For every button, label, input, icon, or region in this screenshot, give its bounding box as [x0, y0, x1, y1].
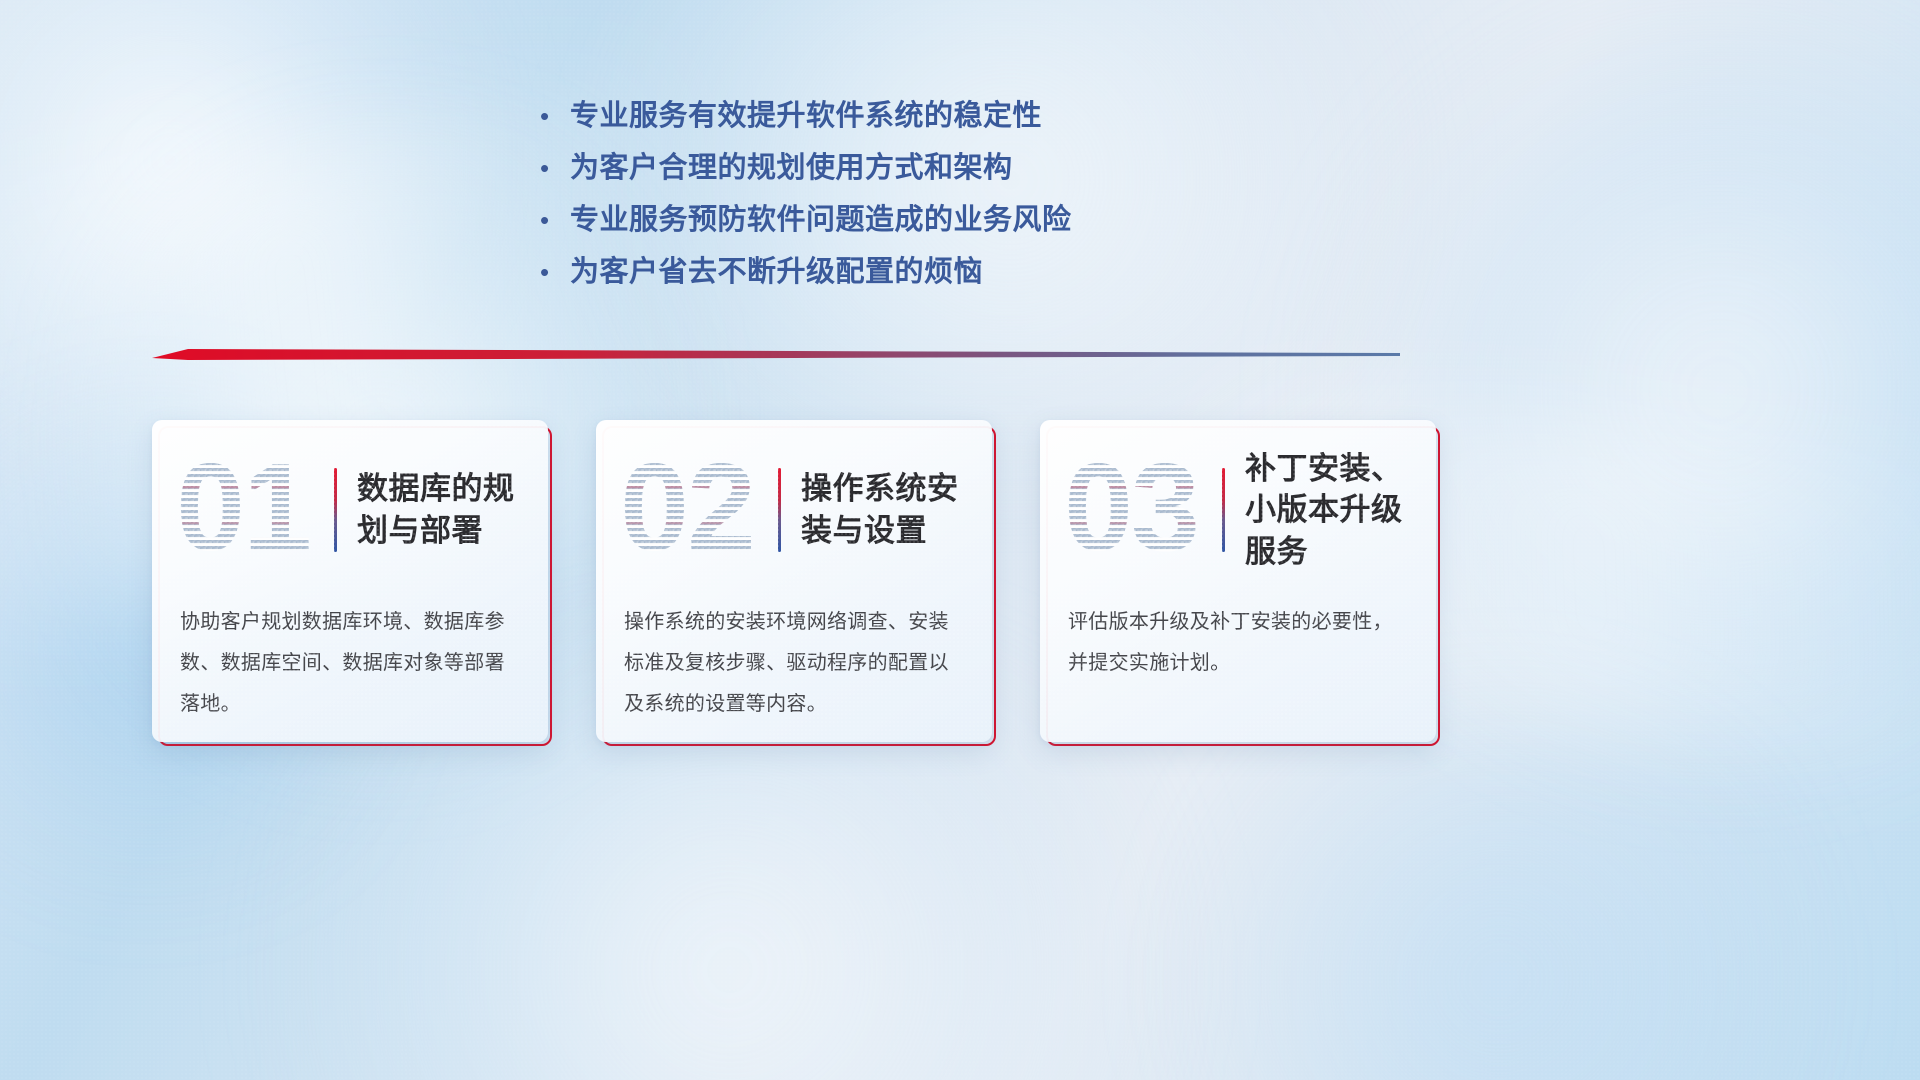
card-surface: 03 补丁安装、小版本升级服务 评估版本升级及补丁安装的必要性，并提交实施计划。	[1040, 420, 1436, 742]
card-surface: 01 数据库的规划与部署 协助客户规划数据库环境、数据库参数、数据库空间、数据库…	[152, 420, 548, 742]
card-header: 02 操作系统安装与设置	[624, 454, 964, 566]
card-02[interactable]: 02 操作系统安装与设置 操作系统的安装环境网络调查、安装标准及复核步骤、驱动程…	[596, 420, 992, 742]
card-body-text: 评估版本升级及补丁安装的必要性，并提交实施计划。	[1068, 602, 1408, 684]
bullet-text: 为客户合理的规划使用方式和架构	[570, 144, 1013, 186]
card-03[interactable]: 03 补丁安装、小版本升级服务 评估版本升级及补丁安装的必要性，并提交实施计划。	[1040, 420, 1436, 742]
card-number-graphic: 02	[624, 454, 774, 566]
bullet-marker-icon: •	[540, 259, 570, 285]
card-title: 操作系统安装与设置	[801, 468, 964, 551]
list-item: • 为客户合理的规划使用方式和架构	[540, 144, 1360, 196]
list-item: • 专业服务有效提升软件系统的稳定性	[540, 92, 1360, 144]
bullet-text: 专业服务有效提升软件系统的稳定性	[570, 92, 1042, 134]
bullet-marker-icon: •	[540, 155, 570, 181]
card-header: 03 补丁安装、小版本升级服务	[1068, 454, 1408, 566]
bullet-text: 专业服务预防软件问题造成的业务风险	[570, 196, 1072, 238]
number-striped-icon: 01	[176, 450, 336, 570]
bullet-marker-icon: •	[540, 207, 570, 233]
number-striped-icon: 02	[620, 450, 780, 570]
card-body-text: 操作系统的安装环境网络调查、安装标准及复核步骤、驱动程序的配置以及系统的设置等内…	[624, 602, 964, 725]
card-row: 01 数据库的规划与部署 协助客户规划数据库环境、数据库参数、数据库空间、数据库…	[152, 420, 1772, 746]
card-number-graphic: 01	[180, 454, 330, 566]
card-surface: 02 操作系统安装与设置 操作系统的安装环境网络调查、安装标准及复核步骤、驱动程…	[596, 420, 992, 742]
card-number-graphic: 03	[1068, 454, 1218, 566]
card-title: 数据库的规划与部署	[357, 468, 520, 551]
list-item: • 为客户省去不断升级配置的烦恼	[540, 248, 1360, 300]
card-01[interactable]: 01 数据库的规划与部署 协助客户规划数据库环境、数据库参数、数据库空间、数据库…	[152, 420, 548, 742]
section-divider	[152, 340, 1400, 366]
bullet-list: • 专业服务有效提升软件系统的稳定性 • 为客户合理的规划使用方式和架构 • 专…	[540, 92, 1360, 300]
bullet-marker-icon: •	[540, 103, 570, 129]
list-item: • 专业服务预防软件问题造成的业务风险	[540, 196, 1360, 248]
bullet-text: 为客户省去不断升级配置的烦恼	[570, 248, 983, 290]
card-title: 补丁安装、小版本升级服务	[1245, 448, 1408, 573]
card-body-text: 协助客户规划数据库环境、数据库参数、数据库空间、数据库对象等部署落地。	[180, 602, 520, 725]
divider-tapered-line-icon	[152, 340, 1400, 366]
card-header: 01 数据库的规划与部署	[180, 454, 520, 566]
number-striped-icon: 03	[1064, 450, 1224, 570]
